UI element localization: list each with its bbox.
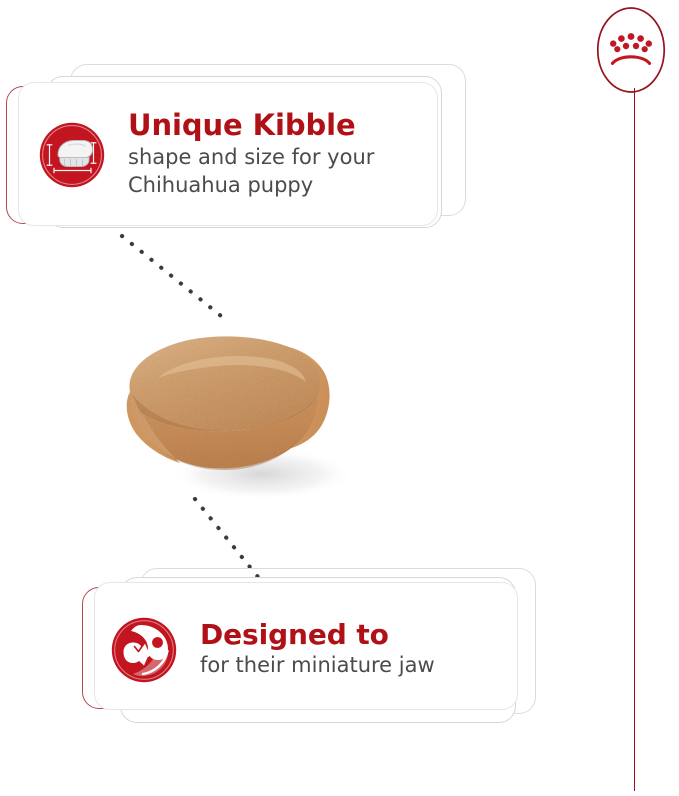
kibble-glyph (58, 141, 93, 167)
card-body: for their miniature jaw (200, 652, 530, 680)
card-unique-kibble-text: Unique Kibble shape and size for your Ch… (128, 110, 438, 199)
jaw-eye (152, 637, 163, 648)
card-designed-to-content: Designed to for their miniature jaw (110, 596, 530, 704)
royal-canin-crown-logo (596, 6, 666, 94)
card-designed-to: Designed to for their miniature jaw (82, 568, 562, 728)
infographic-canvas: Unique Kibble shape and size for your Ch… (0, 0, 679, 796)
card-heading: Designed to (200, 620, 530, 649)
card-designed-to-text: Designed to for their miniature jaw (200, 620, 530, 680)
crown-oval-outline (596, 6, 666, 94)
kibble-measurement-icon (38, 121, 106, 189)
card-unique-kibble: Unique Kibble shape and size for your Ch… (2, 64, 472, 236)
jaw-chew-icon (110, 616, 178, 684)
brand-vertical-rule (634, 88, 635, 791)
card-heading: Unique Kibble (128, 110, 438, 140)
card-body: shape and size for your Chihuahua puppy (128, 144, 438, 200)
kibble-body (127, 336, 330, 470)
card-unique-kibble-content: Unique Kibble shape and size for your Ch… (38, 94, 438, 216)
